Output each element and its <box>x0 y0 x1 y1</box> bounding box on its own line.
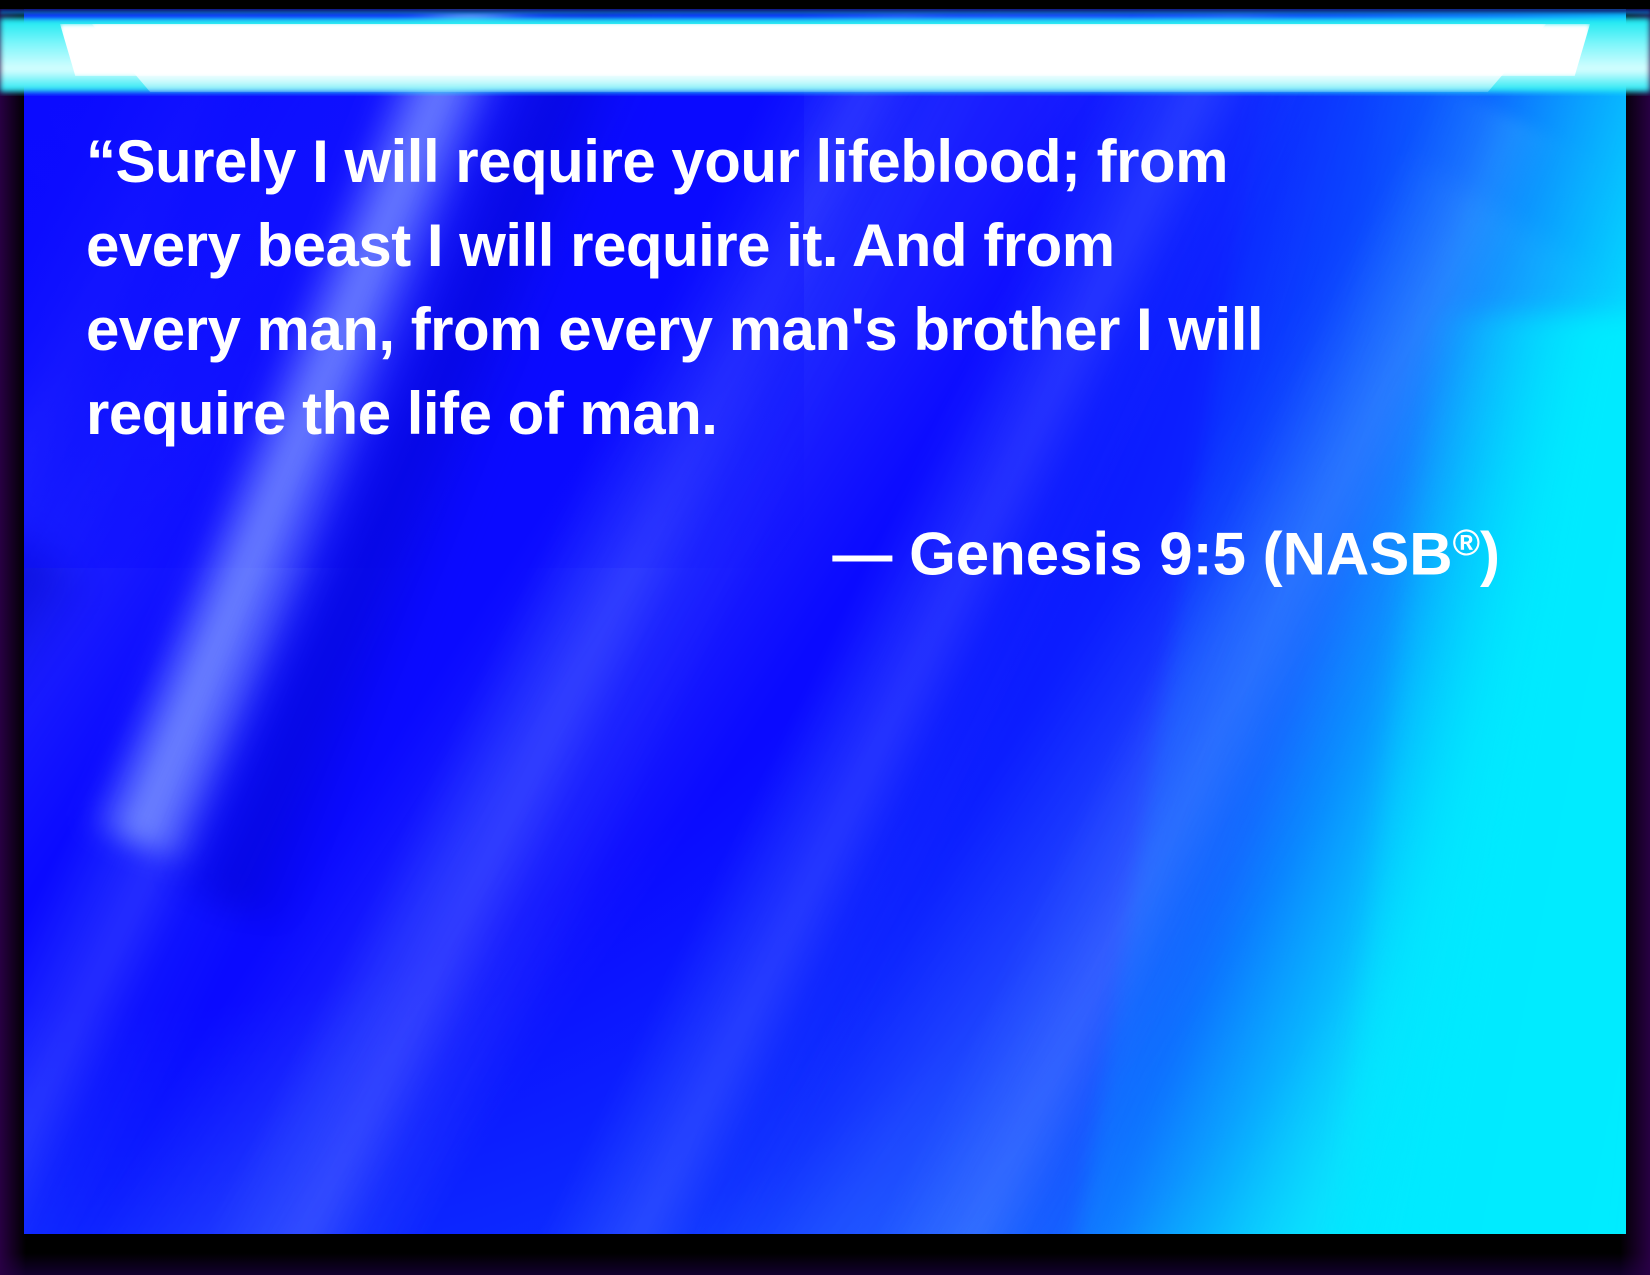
verse-line-2: every beast I will require it. And from <box>86 204 1506 288</box>
registered-trademark-icon: ® <box>1453 521 1480 563</box>
verse-line-4: require the life of man. <box>86 372 1506 456</box>
citation-close-paren: ) <box>1480 520 1500 587</box>
citation-dash: — <box>832 520 892 587</box>
slide-canvas: “Surely I will require your lifeblood; f… <box>0 0 1650 1275</box>
top-bar-white-layer <box>60 24 1590 76</box>
citation-book: Genesis <box>909 520 1142 587</box>
top-glow-bar <box>0 0 1650 96</box>
verse-line-3: every man, from every man's brother I wi… <box>86 288 1506 372</box>
verse-citation: — Genesis 9:5 (NASB®) <box>86 500 1506 596</box>
top-bar-black-edge <box>0 0 1650 9</box>
verse-text-block: “Surely I will require your lifeblood; f… <box>86 120 1506 596</box>
citation-open-paren: ( <box>1263 520 1283 587</box>
verse-line-1: “Surely I will require your lifeblood; f… <box>86 120 1506 204</box>
citation-reference: 9:5 <box>1159 520 1246 587</box>
citation-translation: NASB <box>1283 520 1453 587</box>
